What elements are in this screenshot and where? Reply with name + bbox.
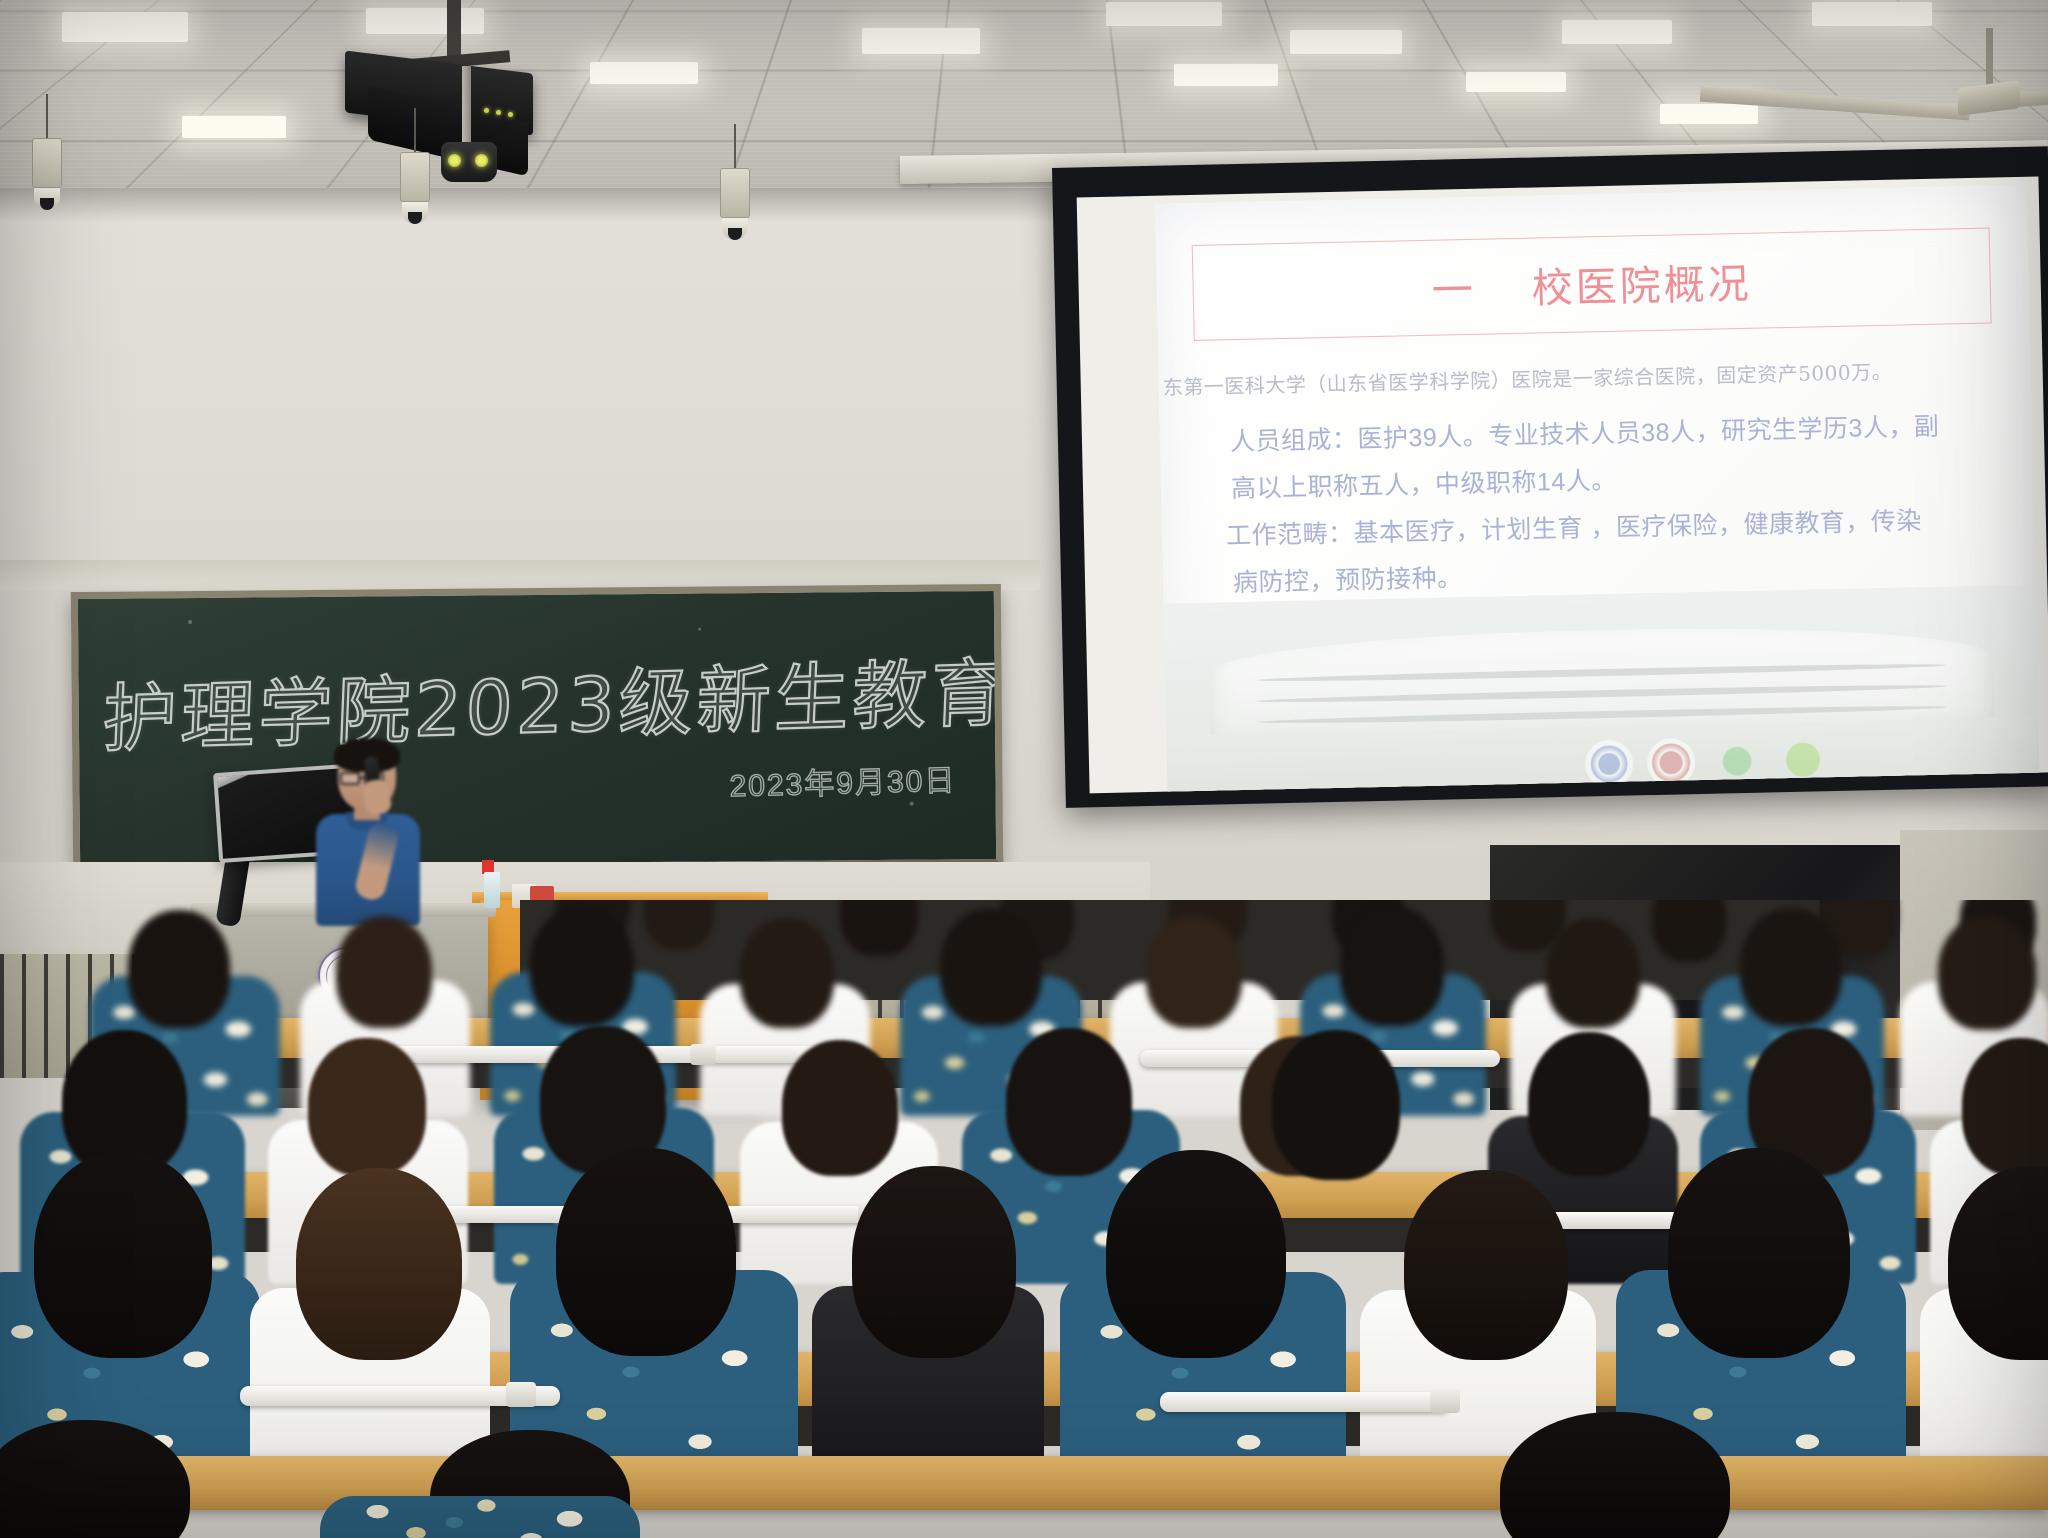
student-head — [1938, 916, 2036, 1030]
student-head — [782, 1040, 898, 1176]
camera-bracket — [720, 168, 750, 218]
student-head — [740, 918, 834, 1028]
building-stripe-1 — [1256, 662, 1947, 684]
slide-lead-line: 东第一医科大学（山东省医学科学院）医院是一家综合医院，固定资产5000万。 — [1162, 353, 2002, 400]
rail-joint — [690, 1044, 716, 1065]
ceiling-light-9 — [590, 62, 698, 84]
student-head — [1652, 900, 1726, 962]
desk-rail — [1160, 1392, 1450, 1412]
student-head — [128, 910, 230, 1028]
ceiling-light-4 — [1106, 2, 1222, 26]
student-head — [296, 1168, 462, 1360]
projection-screen[interactable]: 一校医院概况 东第一医科大学（山东省医学科学院）医院是一家综合医院，固定资产50… — [1052, 146, 2048, 808]
student-head — [1272, 1030, 1400, 1180]
blackboard-date-text: 2023年9月30日 — [729, 755, 957, 805]
ceiling-light-8 — [182, 116, 286, 138]
presenter — [302, 742, 432, 922]
slide-hospital-photo — [1164, 585, 2040, 794]
student-head — [940, 908, 1042, 1026]
student-head — [1340, 906, 1444, 1026]
student-head — [336, 916, 432, 1028]
projector-ceiling-mount — [447, 0, 461, 60]
slide-title-number: 一 — [1431, 266, 1476, 315]
presenter-glasses-bridge — [360, 777, 366, 779]
camera-bracket — [400, 152, 430, 202]
student-head — [308, 1038, 426, 1176]
rail-joint — [1430, 1388, 1460, 1413]
student-head — [556, 1148, 736, 1356]
ceiling-light-12 — [1660, 104, 1758, 124]
blackboard: 护理学院2023级新生教育会 2023年9月30日 — [71, 584, 1003, 874]
slide-content: 一校医院概况 东第一医科大学（山东省医学科学院）医院是一家综合医院，固定资产50… — [1155, 185, 2040, 794]
building-stripe-2 — [1256, 683, 1947, 705]
student-head — [1528, 1032, 1650, 1176]
blackboard-main-text: 护理学院2023级新生教育会 — [101, 634, 985, 767]
camera-wire — [46, 94, 48, 140]
ceiling-light-11 — [1466, 72, 1566, 92]
camera-led-right — [475, 154, 488, 167]
ceiling-light-2 — [366, 8, 484, 34]
projector-status-led-1 — [484, 108, 489, 113]
student-head — [1740, 908, 1842, 1026]
projector-status-led-3 — [508, 112, 513, 117]
slide-title-box: 一校医院概况 — [1192, 228, 1992, 341]
student-head — [34, 1152, 212, 1358]
student-head — [1404, 1170, 1568, 1360]
slide-title-text: 校医院概况 — [1531, 260, 1752, 313]
desk-row — [0, 1456, 2048, 1510]
lecture-hall-photo: 一校医院概况 东第一医科大学（山东省医学科学院）医院是一家综合医院，固定资产50… — [0, 0, 2048, 1538]
ceiling-fan-rod — [1986, 28, 1993, 90]
audience-seating: ATHLETIC 1978 DEPT — [0, 900, 2048, 1538]
projector-status-led-2 — [496, 110, 501, 115]
student-head — [1668, 1148, 1850, 1358]
screen-surface: 一校医院概况 东第一医科大学（山东省医学科学院）医院是一家综合医院，固定资产50… — [1077, 176, 2048, 793]
camera-led-left — [448, 154, 461, 167]
camera-wire — [734, 124, 736, 170]
camera-wire — [414, 108, 416, 154]
chalk-dust-3 — [910, 802, 914, 806]
ceiling-light-5 — [1290, 30, 1402, 54]
ceiling-light-10 — [1174, 64, 1278, 86]
ceiling-light-7 — [1812, 2, 1932, 26]
ceiling-light-6 — [1562, 20, 1672, 44]
camera-support-pole — [462, 66, 471, 150]
student-head — [530, 906, 634, 1026]
student-head — [1106, 1150, 1286, 1358]
student-head — [1146, 916, 1242, 1028]
projected-slide: 一校医院概况 东第一医科大学（山东省医学科学院）医院是一家综合医院，固定资产50… — [1155, 185, 2040, 794]
student-head — [1546, 918, 1640, 1028]
ceiling-light-1 — [62, 12, 188, 42]
student-uniform — [320, 1496, 640, 1538]
chalk-dust-2 — [698, 628, 701, 631]
presenter-glasses-left-lens — [340, 772, 360, 785]
camera-bracket — [32, 138, 62, 188]
ceiling-camera — [441, 142, 497, 182]
chalk-dust-1 — [188, 620, 192, 624]
ceiling-light-3 — [862, 28, 980, 54]
student-head — [852, 1166, 1016, 1358]
student-head — [1006, 1028, 1132, 1176]
rail-joint — [506, 1382, 536, 1407]
